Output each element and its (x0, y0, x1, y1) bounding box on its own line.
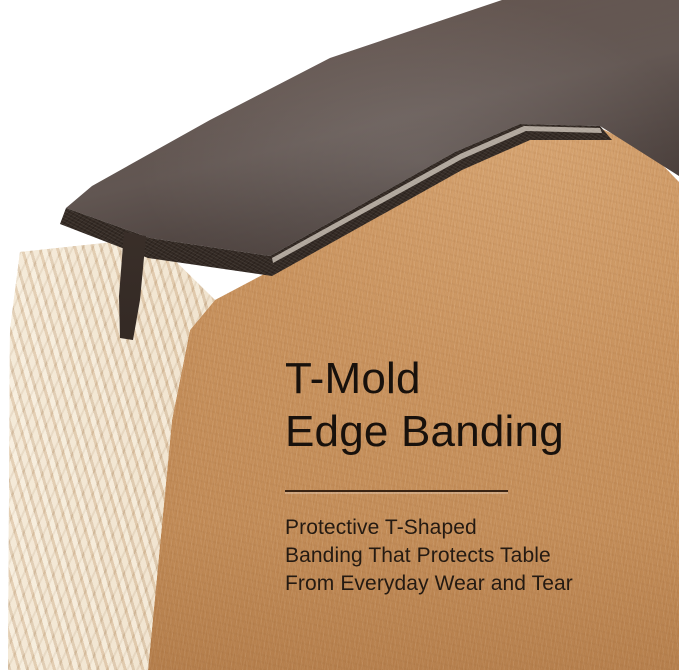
headline: T-Mold Edge Banding (285, 352, 675, 458)
headline-divider-rule (285, 490, 508, 492)
headline-line-2: Edge Banding (285, 405, 675, 458)
subcopy-line-2: Banding That Protects Table (285, 542, 675, 570)
subcopy-line-1: Protective T-Shaped (285, 514, 675, 542)
marketing-copy-block: T-Mold Edge Banding Protective T-Shaped … (285, 352, 675, 598)
subcopy: Protective T-Shaped Banding That Protect… (285, 514, 675, 598)
subcopy-line-3: From Everyday Wear and Tear (285, 570, 675, 598)
headline-line-1: T-Mold (285, 352, 675, 405)
product-photo-scene: T-Mold Edge Banding Protective T-Shaped … (0, 0, 679, 670)
